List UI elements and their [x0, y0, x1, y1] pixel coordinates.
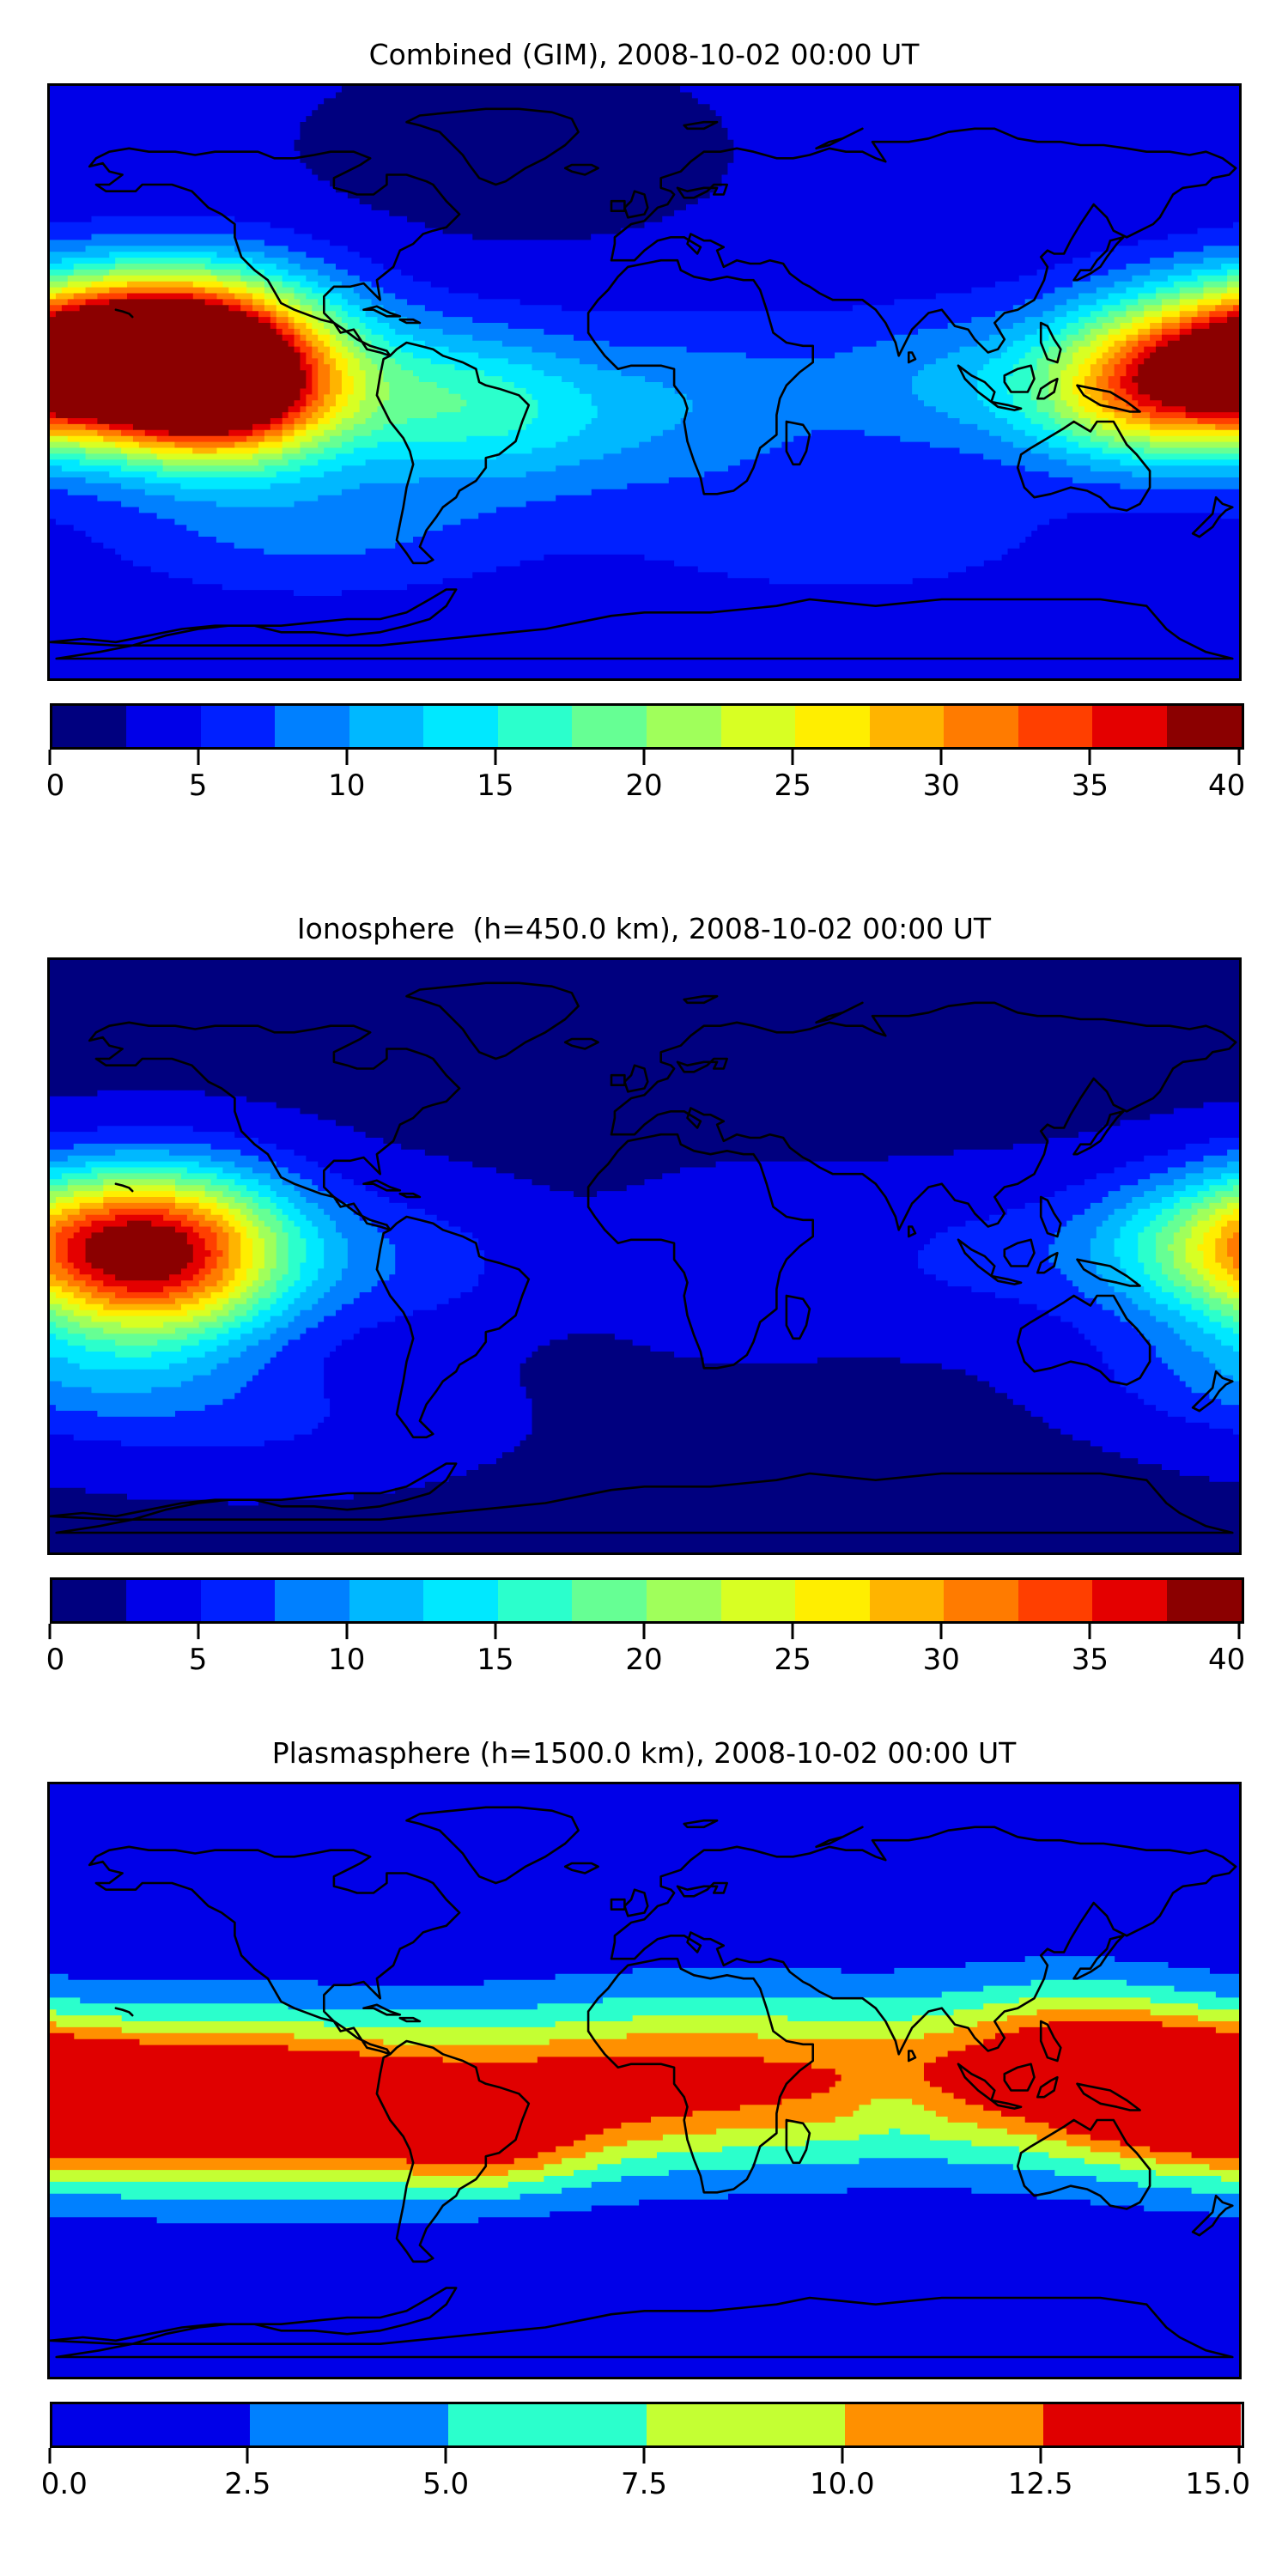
tick-mark — [841, 2448, 843, 2464]
colorbar-band-15 — [1167, 1580, 1242, 1621]
colorbar-band-6 — [498, 1580, 573, 1621]
colorbar-band-3 — [275, 1580, 349, 1621]
colorbar-ticks — [50, 1624, 1239, 1643]
tick-label: 35 — [1072, 1643, 1109, 1677]
panel-title-plasmasphere: Plasmasphere (h=1500.0 km), 2008-10-02 0… — [0, 1736, 1288, 1770]
tick-label: 20 — [625, 769, 662, 803]
tick-mark — [792, 1624, 794, 1639]
tick-label: 12.5 — [1008, 2467, 1073, 2501]
colorbar-tick-labels: 0510152025303540 — [50, 1643, 1239, 1682]
panel-title-combined: Combined (GIM), 2008-10-02 00:00 UT — [0, 38, 1288, 71]
tick-mark — [494, 1624, 496, 1639]
filled-contours — [50, 86, 1239, 678]
colorbar-band-4 — [845, 2404, 1043, 2445]
map-plot-ionosphere — [47, 957, 1242, 1555]
tick-mark — [792, 750, 794, 765]
tick-mark — [197, 1624, 199, 1639]
tick-label: 0.0 — [41, 2467, 88, 2501]
contour-map — [50, 1784, 1239, 2377]
tick-label: 35 — [1072, 769, 1109, 803]
tick-label: 30 — [923, 769, 960, 803]
colorbar-band-11 — [870, 1580, 945, 1621]
tick-label: 7.5 — [621, 2467, 667, 2501]
tick-mark — [246, 2448, 249, 2464]
colorbar-band-9 — [721, 706, 796, 747]
panel-ionosphere: Ionosphere (h=450.0 km), 2008-10-02 00:0… — [0, 912, 1288, 1682]
colorbar-band-2 — [201, 1580, 276, 1621]
colorbar-swatches — [50, 1577, 1244, 1624]
tick-mark — [345, 1624, 348, 1639]
tick-mark — [643, 2448, 646, 2464]
colorbar-band-5 — [1043, 2404, 1242, 2445]
tick-label: 40 — [1208, 1643, 1245, 1677]
colorbar-band-4 — [349, 706, 424, 747]
tick-mark — [48, 750, 51, 765]
tick-mark — [1089, 1624, 1091, 1639]
tick-label: 10.0 — [810, 2467, 875, 2501]
tick-label: 25 — [774, 1643, 811, 1677]
tick-label: 10 — [328, 1643, 365, 1677]
tick-mark — [197, 750, 199, 765]
tick-label: 30 — [923, 1643, 960, 1677]
colorbar-band-1 — [126, 706, 201, 747]
colorbar-band-7 — [572, 706, 647, 747]
colorbar-band-5 — [423, 1580, 498, 1621]
colorbar-band-1 — [126, 1580, 201, 1621]
tick-label: 10 — [328, 769, 365, 803]
tick-label: 15.0 — [1185, 2467, 1250, 2501]
tick-mark — [48, 1624, 51, 1639]
colorbar-band-6 — [498, 706, 573, 747]
colorbar-band-0 — [52, 706, 127, 747]
tick-mark — [940, 750, 943, 765]
colorbar-ticks — [50, 2448, 1239, 2467]
colorbar-band-13 — [1018, 1580, 1093, 1621]
colorbar-band-12 — [944, 1580, 1018, 1621]
figure-canvas: Combined (GIM), 2008-10-02 00:00 UT 0510… — [0, 0, 1288, 2576]
colorbar-band-1 — [250, 2404, 448, 2445]
tick-label: 5.0 — [422, 2467, 469, 2501]
tick-mark — [643, 750, 646, 765]
tick-label: 5 — [189, 1643, 208, 1677]
tick-mark — [1237, 750, 1240, 765]
contour-map — [50, 960, 1239, 1552]
tick-label: 5 — [189, 769, 208, 803]
colorbar-combined: 0510152025303540 — [50, 703, 1239, 808]
colorbar-band-14 — [1092, 706, 1167, 747]
colorbar-band-14 — [1092, 1580, 1167, 1621]
tick-mark — [643, 1624, 646, 1639]
colorbar-tick-labels: 0.02.55.07.510.012.515.0 — [50, 2467, 1239, 2506]
colorbar-band-10 — [795, 706, 870, 747]
panel-plasmasphere: Plasmasphere (h=1500.0 km), 2008-10-02 0… — [0, 1736, 1288, 2506]
filled-contours — [50, 960, 1239, 1552]
colorbar-band-3 — [275, 706, 349, 747]
panel-combined-gim: Combined (GIM), 2008-10-02 00:00 UT 0510… — [0, 38, 1288, 808]
colorbar-band-0 — [52, 1580, 127, 1621]
tick-label: 0 — [46, 769, 65, 803]
tick-mark — [940, 1624, 943, 1639]
tick-mark — [1089, 750, 1091, 765]
colorbar-ionosphere: 0510152025303540 — [50, 1577, 1239, 1682]
tick-mark — [48, 2448, 51, 2464]
tick-label: 15 — [477, 769, 513, 803]
map-plot-plasmasphere — [47, 1782, 1242, 2379]
panel-title-ionosphere: Ionosphere (h=450.0 km), 2008-10-02 00:0… — [0, 912, 1288, 945]
colorbar-band-8 — [647, 1580, 721, 1621]
colorbar-swatches — [50, 703, 1244, 750]
colorbar-swatches — [50, 2402, 1244, 2448]
filled-contours — [50, 1784, 1239, 2377]
colorbar-band-7 — [572, 1580, 647, 1621]
colorbar-band-9 — [721, 1580, 796, 1621]
tick-mark — [1237, 1624, 1240, 1639]
colorbar-band-2 — [448, 2404, 647, 2445]
colorbar-band-11 — [870, 706, 945, 747]
tick-mark — [1039, 2448, 1042, 2464]
tick-mark — [445, 2448, 447, 2464]
tick-label: 40 — [1208, 769, 1245, 803]
colorbar-ticks — [50, 750, 1239, 769]
colorbar-band-10 — [795, 1580, 870, 1621]
colorbar-band-0 — [52, 2404, 251, 2445]
tick-label: 25 — [774, 769, 811, 803]
tick-label: 2.5 — [224, 2467, 270, 2501]
colorbar-band-13 — [1018, 706, 1093, 747]
colorbar-band-3 — [647, 2404, 845, 2445]
tick-label: 15 — [477, 1643, 513, 1677]
colorbar-plasmasphere: 0.02.55.07.510.012.515.0 — [50, 2402, 1239, 2506]
colorbar-band-12 — [944, 706, 1018, 747]
colorbar-band-5 — [423, 706, 498, 747]
tick-mark — [494, 750, 496, 765]
contour-map — [50, 86, 1239, 678]
tick-label: 20 — [625, 1643, 662, 1677]
tick-mark — [345, 750, 348, 765]
colorbar-band-8 — [647, 706, 721, 747]
colorbar-band-2 — [201, 706, 276, 747]
map-plot-combined — [47, 83, 1242, 681]
colorbar-band-15 — [1167, 706, 1242, 747]
colorbar-tick-labels: 0510152025303540 — [50, 769, 1239, 808]
tick-mark — [1237, 2448, 1240, 2464]
tick-label: 0 — [46, 1643, 65, 1677]
colorbar-band-4 — [349, 1580, 424, 1621]
